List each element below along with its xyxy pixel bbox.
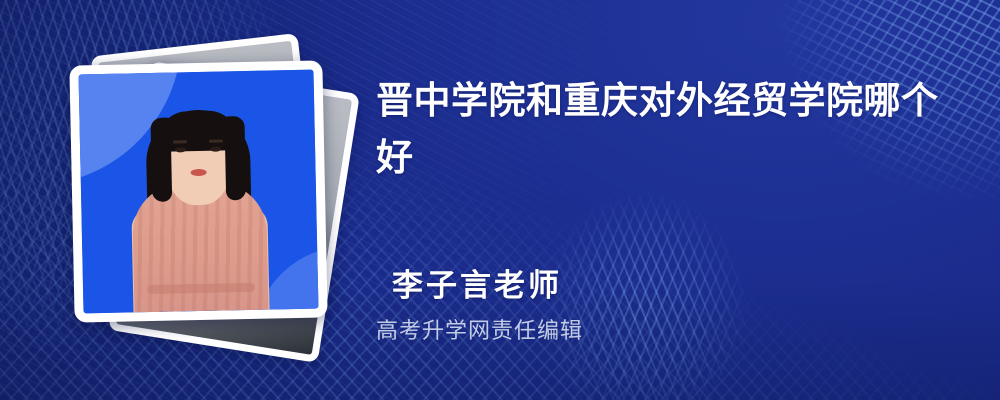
author-banner: 晋中学院和重庆对外经贸学院哪个好 李子言老师 高考升学网责任编辑	[0, 0, 1000, 400]
author-role: 高考升学网责任编辑	[376, 314, 796, 348]
author-photo-stack	[52, 30, 352, 360]
portrait-lips	[190, 169, 206, 176]
page-title: 晋中学院和重庆对外经贸学院哪个好	[376, 72, 962, 186]
author-info: 李子言老师 高考升学网责任编辑	[376, 266, 796, 348]
avatar	[79, 70, 319, 314]
author-photo-frame	[69, 60, 327, 322]
portrait-hair-front	[157, 111, 238, 153]
author-name: 李子言老师	[376, 266, 796, 306]
